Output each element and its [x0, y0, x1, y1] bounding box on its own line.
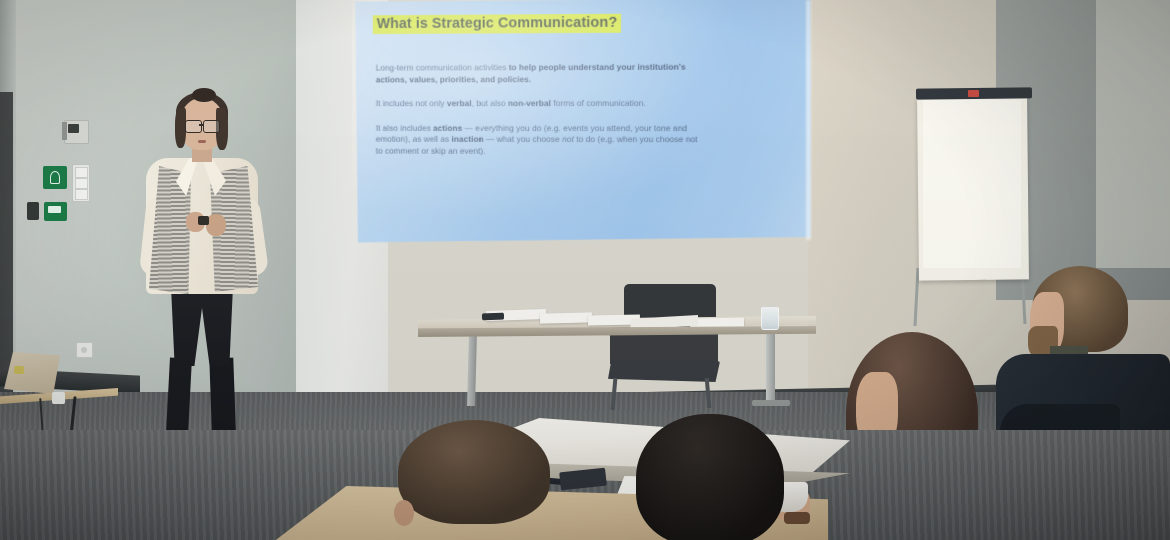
- projection-screen: What is Strategic Communication? Long-te…: [355, 0, 810, 246]
- slide-title: What is Strategic Communication?: [373, 14, 622, 34]
- wristwatch-icon: [784, 512, 810, 524]
- laptop-logo-icon: [14, 366, 24, 374]
- laptop[interactable]: [4, 352, 60, 394]
- door-frame: [0, 92, 13, 392]
- glasses-icon: [185, 120, 202, 133]
- power-outlet-icon: [76, 342, 93, 358]
- presentation-remote[interactable]: [482, 313, 504, 321]
- presenter-hand: [206, 214, 226, 236]
- handout-paper: [540, 312, 592, 323]
- screen-right-edge: [806, 0, 811, 240]
- slide-paragraph-3: It also includes actions — everything yo…: [376, 123, 704, 158]
- presenter-hair-bun: [192, 88, 216, 102]
- card-reader-icon[interactable]: [27, 202, 39, 220]
- conference-chair-seat: [608, 360, 720, 382]
- light-switch-icon[interactable]: [75, 167, 88, 178]
- emergency-exit-sign-icon: [43, 166, 67, 189]
- clicker-device[interactable]: [198, 216, 209, 225]
- plug-adapter: [52, 392, 65, 404]
- glasses-icon: [203, 120, 220, 133]
- slide-paragraph-2: It includes not only verbal, but also no…: [376, 98, 704, 110]
- water-glass: [761, 307, 779, 330]
- attendee-front-center-hair: [636, 414, 784, 540]
- attendee-ear: [394, 500, 414, 526]
- presenter-mouth: [198, 140, 206, 143]
- table-foot: [752, 400, 790, 406]
- intercom-screen-icon: [68, 124, 79, 133]
- light-switch-icon[interactable]: [75, 189, 88, 200]
- first-aid-sign-icon: [44, 202, 67, 221]
- slide-body: Long-term communication activities to he…: [376, 62, 704, 171]
- flipchart-brand-mark-icon: [968, 90, 979, 97]
- glasses-bridge-icon: [199, 124, 204, 126]
- intercom-side-plate: [62, 122, 67, 140]
- right-wall-panel-secondary: [1096, 0, 1170, 268]
- flipchart-paper-sheet: [923, 100, 1021, 268]
- attendee-front-left-hair: [398, 420, 550, 524]
- table-leg: [766, 326, 775, 404]
- light-switch-panel[interactable]: [72, 164, 90, 202]
- light-switch-icon[interactable]: [75, 178, 88, 189]
- presentation-room-photo: What is Strategic Communication? Long-te…: [0, 0, 1170, 540]
- slide-paragraph-1: Long-term communication activities to he…: [376, 62, 704, 86]
